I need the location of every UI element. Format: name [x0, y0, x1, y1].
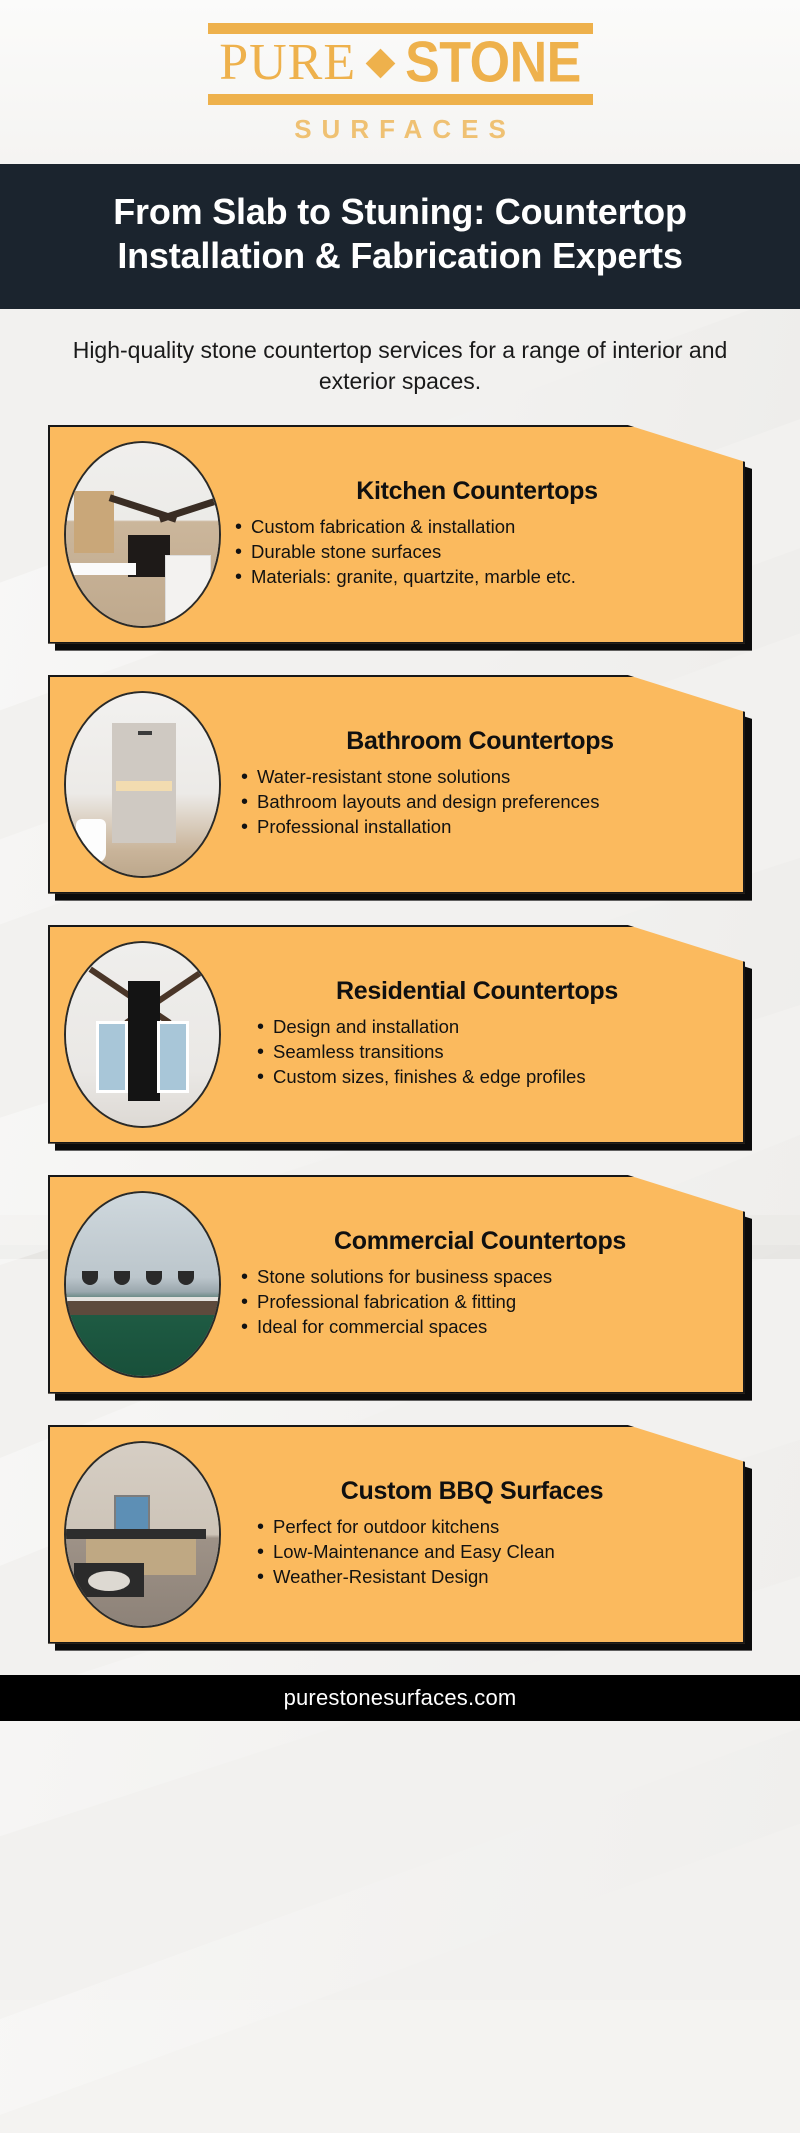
residential-photo [64, 941, 221, 1128]
list-item: Ideal for commercial spaces [237, 1316, 723, 1339]
list-item: Stone solutions for business spaces [237, 1266, 723, 1289]
list-item: Seamless transitions [253, 1041, 723, 1064]
service-card-bbq[interactable]: Custom BBQ Surfaces Perfect for outdoor … [48, 1425, 752, 1644]
logo-rule-bottom [208, 94, 593, 105]
logo-subtitle: SURFACES [284, 114, 516, 145]
list-item: Low-Maintenance and Easy Clean [253, 1541, 723, 1564]
card-bullet-list: Custom fabrication & installation Durabl… [231, 516, 723, 589]
diamond-icon [366, 48, 396, 78]
title-banner: From Slab to Stuning: Countertop Install… [0, 164, 800, 309]
list-item: Design and installation [253, 1016, 723, 1039]
list-item: Water-resistant stone solutions [237, 766, 723, 789]
card-title: Kitchen Countertops [231, 477, 723, 506]
service-card-residential[interactable]: Residential Countertops Design and insta… [48, 925, 752, 1144]
infographic-page: PURE STONE SURFACES From Slab to Stuning… [0, 0, 800, 1721]
kitchen-photo [64, 441, 221, 628]
list-item: Materials: granite, quartzite, marble et… [231, 566, 723, 589]
service-card-bathroom[interactable]: Bathroom Countertops Water-resistant sto… [48, 675, 752, 894]
commercial-photo [64, 1191, 221, 1378]
intro-text: High-quality stone countertop services f… [0, 309, 800, 425]
logo-mark: PURE STONE [208, 23, 593, 105]
service-card-kitchen[interactable]: Kitchen Countertops Custom fabrication &… [48, 425, 752, 644]
list-item: Custom sizes, finishes & edge profiles [253, 1066, 723, 1089]
logo-word-stone: STONE [405, 34, 581, 91]
list-item: Durable stone surfaces [231, 541, 723, 564]
card-title: Residential Countertops [231, 977, 723, 1006]
card-bullet-list: Water-resistant stone solutions Bathroom… [237, 766, 723, 839]
list-item: Professional fabrication & fitting [237, 1291, 723, 1314]
footer-bar: purestonesurfaces.com [0, 1675, 800, 1721]
card-bullet-list: Stone solutions for business spaces Prof… [237, 1266, 723, 1339]
card-title: Custom BBQ Surfaces [231, 1477, 723, 1506]
bbq-photo [64, 1441, 221, 1628]
page-title: From Slab to Stuning: Countertop Install… [30, 190, 770, 279]
service-card-commercial[interactable]: Commercial Countertops Stone solutions f… [48, 1175, 752, 1394]
brand-logo: PURE STONE SURFACES [0, 0, 800, 164]
list-item: Custom fabrication & installation [231, 516, 723, 539]
card-bullet-list: Perfect for outdoor kitchens Low-Mainten… [231, 1516, 723, 1589]
card-bullet-list: Design and installation Seamless transit… [231, 1016, 723, 1089]
card-title: Bathroom Countertops [237, 727, 723, 756]
service-card-list: Kitchen Countertops Custom fabrication &… [0, 425, 800, 1644]
list-item: Perfect for outdoor kitchens [253, 1516, 723, 1539]
bathroom-photo [64, 691, 221, 878]
logo-word-pure: PURE [219, 37, 356, 89]
list-item: Bathroom layouts and design preferences [237, 791, 723, 814]
website-link[interactable]: purestonesurfaces.com [284, 1685, 517, 1711]
list-item: Weather-Resistant Design [253, 1566, 723, 1589]
list-item: Professional installation [237, 816, 723, 839]
card-title: Commercial Countertops [237, 1227, 723, 1256]
